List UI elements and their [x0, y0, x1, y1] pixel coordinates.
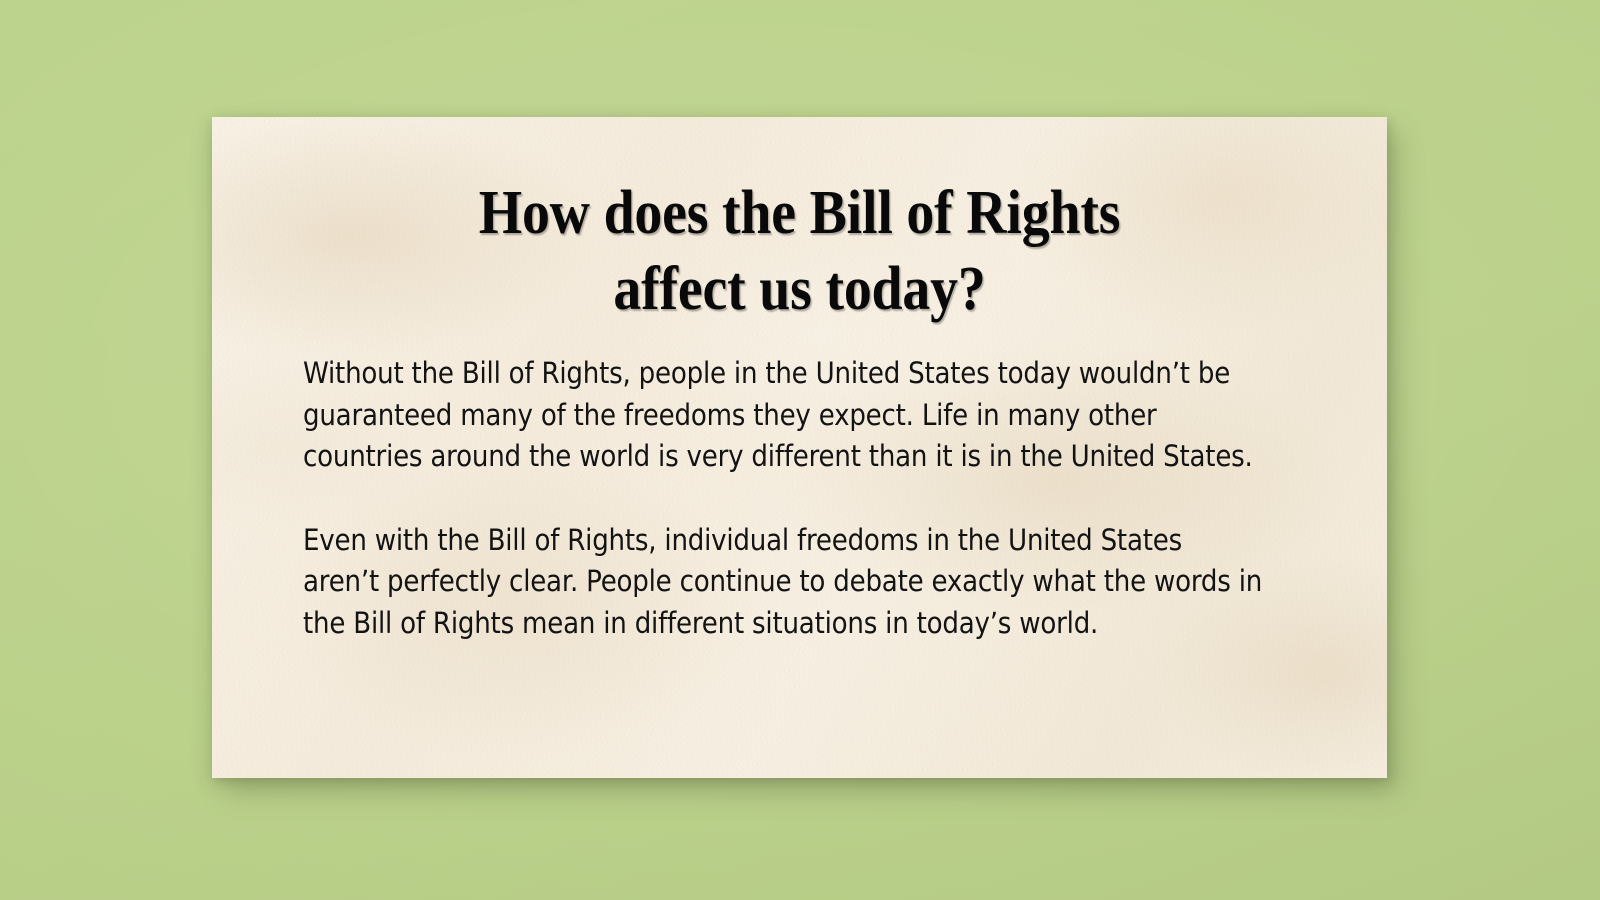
paragraph-spacer [303, 478, 1263, 520]
body-paragraph-1: Without the Bill of Rights, people in th… [303, 353, 1263, 478]
slide-backdrop: How does the Bill of Rights affect us to… [0, 0, 1600, 900]
slide-body: Without the Bill of Rights, people in th… [303, 353, 1263, 644]
body-paragraph-2: Even with the Bill of Rights, individual… [303, 520, 1263, 645]
slide-card: How does the Bill of Rights affect us to… [212, 117, 1387, 778]
slide-content: How does the Bill of Rights affect us to… [212, 117, 1387, 778]
slide-title: How does the Bill of Rights affect us to… [271, 175, 1329, 327]
